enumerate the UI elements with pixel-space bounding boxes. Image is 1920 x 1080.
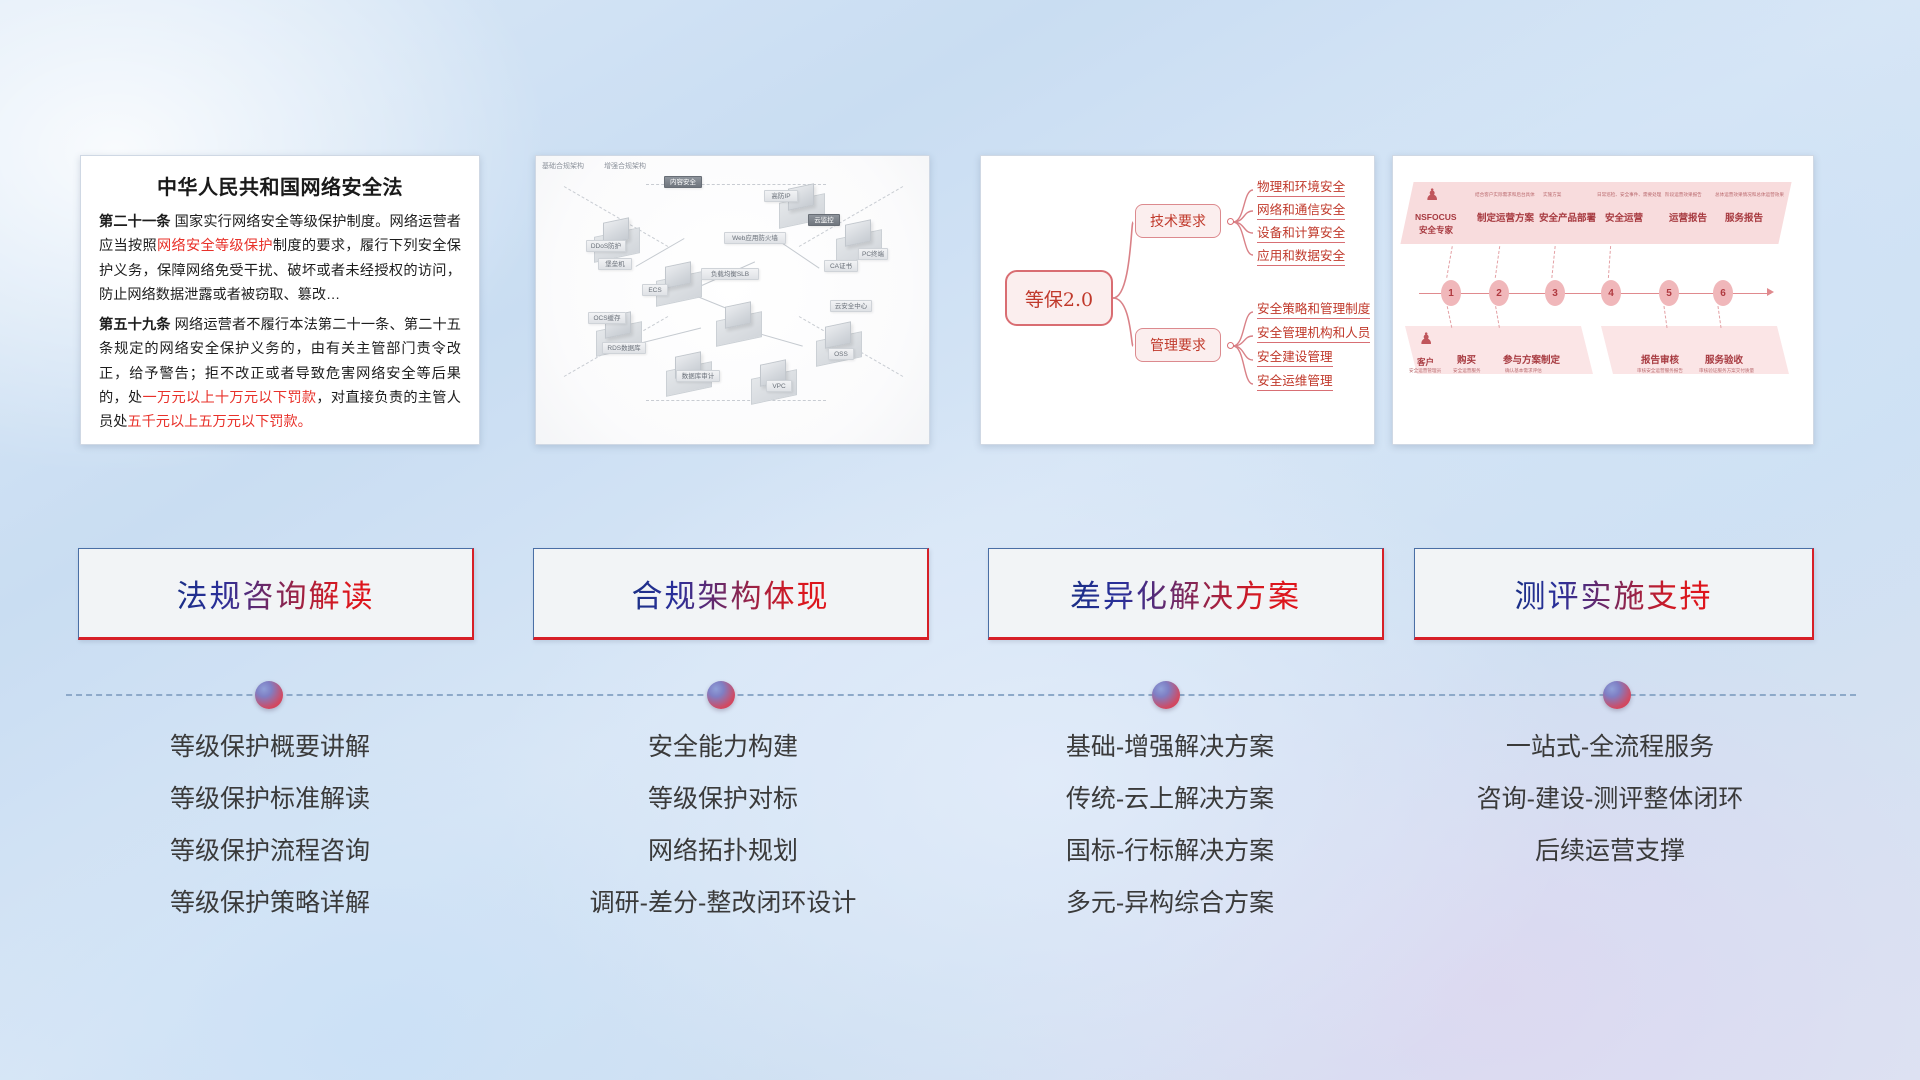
flow-step-main: 运营报告 [1669,210,1707,224]
mindmap-leaf-label: 安全管理机构和人员 [1257,325,1370,340]
card-mindmap[interactable]: 等保2.0 技术要求 物理和环境安全 网络和通信安全 设备和计算安全 应用和数据… [980,155,1375,445]
law-article-59-highlight-2: 五千元以上五万元以下罚款。 [127,414,311,430]
list-item: 安全能力构建 [508,735,938,760]
mindmap-leaf: 安全管理机构和人员 [1257,322,1370,345]
mindmap-canvas: 等保2.0 技术要求 物理和环境安全 网络和通信安全 设备和计算安全 应用和数据… [981,156,1374,444]
mindmap-leaf-label: 安全运维管理 [1257,373,1333,388]
poster-stage: 中华人民共和国网络安全法 第二十一条 国家实行网络安全等级保护制度。网络运营者应… [0,0,1920,1080]
flow-marker: 5 [1659,280,1679,306]
flow-step-sub: 确认基本需求评估 [1505,368,1542,374]
list-item: 等级保护对标 [508,787,938,812]
mindmap-leaf: 安全运维管理 [1257,370,1333,393]
heading-label: 测评实施支持 [1515,571,1713,616]
list-item: 后续运营支撑 [1395,839,1825,864]
list-item: 一站式-全流程服务 [1395,735,1825,760]
flow-marker: 4 [1601,280,1621,306]
flow-step-main: 服务验收 [1705,352,1743,366]
heading-box-regulation-consulting[interactable]: 法规咨询解读 [78,548,474,640]
heading-box-assessment-support[interactable]: 测评实施支持 [1414,548,1814,640]
detail-column-3: 基础-增强解决方案 传统-云上解决方案 国标-行标解决方案 多元-异构综合方案 [955,735,1385,943]
law-title: 中华人民共和国网络安全法 [99,171,461,200]
timeline-dot-1[interactable] [255,681,283,709]
flow-step-sub: 安全运营服务 [1453,368,1481,374]
heading-box-compliance-architecture[interactable]: 合规架构体现 [533,548,929,640]
flow-step-sub: 总体运营效果情况和总体运营效果 [1715,192,1784,198]
flow-step-sub: 结合客户实际需求和后台具体 [1475,192,1535,198]
card-architecture-diagram[interactable]: 基础合规架构 增强合规架构 [535,155,930,445]
arch-node: ECS [642,284,668,296]
mindmap-leaf: 应用和数据安全 [1257,245,1345,268]
architecture-canvas: 基础合规架构 增强合规架构 [536,156,929,444]
mindmap-leaf: 安全策略和管理制度 [1257,298,1370,321]
law-article-21: 第二十一条 国家实行网络安全等级保护制度。网络运营者应当按照网络安全等级保护制度… [99,210,461,308]
card-service-flow[interactable]: ♟ NSFOCUS 安全专家 结合客户实际需求和后台具体 制定运营方案 实施方案… [1392,155,1814,445]
flow-band-bottom-right [1601,326,1789,374]
arch-node: CA证书 [824,260,858,272]
flow-step-sub: 日常巡检、安全事件、需要处理 [1597,192,1661,198]
mindmap-leaf: 设备和计算安全 [1257,222,1345,245]
expert-person-icon: ♟ [1425,188,1439,204]
flow-marker: 1 [1441,280,1461,306]
flow-step-sub: 阶段运营效果报告 [1665,192,1702,198]
arch-title-right: 增强合规架构 [604,161,646,171]
arch-node: 堡垒机 [598,258,632,270]
heading-box-differentiated-solution[interactable]: 差异化解决方案 [988,548,1384,640]
mindmap-leaf: 物理和环境安全 [1257,176,1345,199]
mindmap-leaf-label: 应用和数据安全 [1257,248,1345,263]
arch-node: OCS缓存 [588,312,626,324]
arch-node: VPC [766,380,792,392]
role-customer: 客户 [1417,356,1434,368]
screenshot-cards-row: 中华人民共和国网络安全法 第二十一条 国家实行网络安全等级保护制度。网络运营者应… [0,0,1920,440]
list-item: 传统-云上解决方案 [955,787,1385,812]
arch-node: 云安全中心 [830,300,872,312]
arch-title-left: 基础合规架构 [542,161,584,171]
brand-name: NSFOCUS [1415,212,1457,222]
mindmap-leaf-label: 安全建设管理 [1257,349,1333,364]
timeline-dot-3[interactable] [1152,681,1180,709]
mindmap-branch-management: 管理要求 [1135,328,1221,362]
flow-step-sub: 实施方案 [1543,192,1561,198]
arch-node: OSS [828,348,854,360]
law-article-21-highlight: 网络安全等级保护 [157,238,273,254]
mindmap-leaf-label: 物理和环境安全 [1257,179,1345,194]
arch-node: Web应用防火墙 [724,232,786,244]
flow-step-main: 报告审核 [1641,352,1679,366]
flow-axis-arrow-icon [1767,288,1774,296]
arch-node: DDoS防护 [586,240,626,252]
arch-node: 负载均衡SLB [701,268,759,280]
card-law-text[interactable]: 中华人民共和国网络安全法 第二十一条 国家实行网络安全等级保护制度。网络运营者应… [80,155,480,445]
mindmap-leaf-label: 网络和通信安全 [1257,202,1345,217]
role-customer-sub: 安全运营管理员 [1409,368,1441,374]
law-article-21-label: 第二十一条 [99,214,171,230]
flow-step-main: 安全产品部署 [1539,210,1596,224]
flow-marker: 3 [1545,280,1565,306]
list-item: 网络拓扑规划 [508,839,938,864]
list-item: 等级保护策略详解 [55,891,485,916]
law-document: 中华人民共和国网络安全法 第二十一条 国家实行网络安全等级保护制度。网络运营者应… [81,156,479,445]
list-item: 等级保护概要讲解 [55,735,485,760]
mindmap-collapse-icon[interactable] [1227,342,1234,349]
mindmap-collapse-icon[interactable] [1227,218,1234,225]
flow-step-main: 购买 [1457,352,1476,366]
list-item: 多元-异构综合方案 [955,891,1385,916]
flow-step-main: 制定运营方案 [1477,210,1534,224]
flow-marker: 6 [1713,280,1733,306]
list-item: 调研-差分-整改闭环设计 [508,891,938,916]
mindmap-branch-technical: 技术要求 [1135,204,1221,238]
list-item: 等级保护标准解读 [55,787,485,812]
mindmap-leaf-label: 安全策略和管理制度 [1257,301,1370,316]
detail-lists-row: 等级保护概要讲解 等级保护标准解读 等级保护流程咨询 等级保护策略详解 安全能力… [0,735,1920,985]
law-article-59: 第五十九条 网络运营者不履行本法第二十一条、第二十五条规定的网络安全保护义务的，… [99,313,461,435]
mindmap-root-node: 等保2.0 [1005,270,1113,326]
law-article-59-highlight-1: 一万元以上十万元以下罚款 [142,390,316,406]
timeline-dot-2[interactable] [707,681,735,709]
list-item: 基础-增强解决方案 [955,735,1385,760]
list-item: 咨询-建设-测评整体闭环 [1395,787,1825,812]
customer-person-icon: ♟ [1419,332,1433,348]
mindmap-leaf-label: 设备和计算安全 [1257,225,1345,240]
flow-marker: 2 [1489,280,1509,306]
detail-column-2: 安全能力构建 等级保护对标 网络拓扑规划 调研-差分-整改闭环设计 [508,735,938,943]
arch-node: 数据库审计 [676,370,720,382]
arch-node: 高防IP [764,190,798,202]
service-flow-canvas: ♟ NSFOCUS 安全专家 结合客户实际需求和后台具体 制定运营方案 实施方案… [1393,156,1813,444]
list-item: 国标-行标解决方案 [955,839,1385,864]
mindmap-leaf: 安全建设管理 [1257,346,1333,369]
flow-step-sub: 审核安全运营服务报告 [1637,368,1683,374]
list-item: 等级保护流程咨询 [55,839,485,864]
flow-step-main: 参与方案制定 [1503,352,1560,366]
detail-column-1: 等级保护概要讲解 等级保护标准解读 等级保护流程咨询 等级保护策略详解 [55,735,485,943]
timeline-dashed-line [66,694,1856,696]
arch-node: 云监控 [808,214,840,226]
arch-node: PC终端 [858,248,888,260]
arch-node: 内容安全 [664,176,702,188]
heading-label: 合规架构体现 [632,571,830,616]
detail-column-4: 一站式-全流程服务 咨询-建设-测评整体闭环 后续运营支撑 [1395,735,1825,891]
heading-label: 法规咨询解读 [177,571,375,616]
law-article-59-label: 第五十九条 [99,317,171,333]
flow-step-main: 服务报告 [1725,210,1763,224]
mindmap-leaf: 网络和通信安全 [1257,199,1345,222]
heading-row: 法规咨询解读 合规架构体现 差异化解决方案 测评实施支持 [0,548,1920,648]
heading-label: 差异化解决方案 [1070,571,1301,616]
arch-node: RDS数据库 [602,342,646,354]
flow-step-main: 安全运营 [1605,210,1643,224]
timeline-dot-4[interactable] [1603,681,1631,709]
flow-step-sub: 审核验证服务方案交付质量 [1699,368,1754,374]
brand-subtitle: 安全专家 [1419,224,1453,236]
